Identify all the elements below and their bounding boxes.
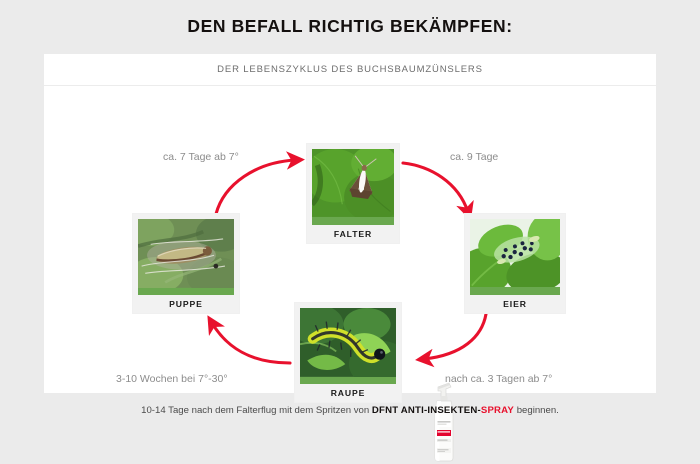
arrow-falter-to-eier bbox=[400, 160, 484, 222]
cycle-card-falter[interactable]: FALTER bbox=[307, 144, 399, 243]
card-caption-falter: FALTER bbox=[312, 225, 394, 243]
page-title: DEN BEFALL RICHTIG BEKÄMPFEN: bbox=[0, 16, 700, 37]
arrow-puppe-to-falter bbox=[212, 156, 310, 218]
label-falter-to-eier: ca. 9 Tage bbox=[450, 151, 498, 163]
infographic-root: DEN BEFALL RICHTIG BEKÄMPFEN: DER LEBENS… bbox=[0, 0, 700, 441]
cycle-card-eier[interactable]: EIER bbox=[465, 214, 565, 313]
label-eier-to-raupe: nach ca. 3 Tagen ab 7° bbox=[445, 373, 552, 385]
label-raupe-to-puppe: 3-10 Wochen bei 7°-30° bbox=[116, 373, 228, 385]
card-caption-raupe: RAUPE bbox=[300, 384, 396, 402]
footer-brand-bold: DFNT ANTI-INSEKTEN- bbox=[372, 405, 481, 416]
card-caption-puppe: PUPPE bbox=[138, 295, 234, 313]
label-puppe-to-falter: ca. 7 Tage ab 7° bbox=[163, 151, 239, 163]
lifecycle-stage: ca. 7 Tage ab 7° ca. 9 Tage nach ca. 3 T… bbox=[44, 87, 656, 393]
card-caption-eier: EIER bbox=[470, 295, 560, 313]
panel-header: DER LEBENSZYKLUS DES BUCHSBAUMZÜNSLERS bbox=[44, 54, 656, 86]
spray-bottle-product[interactable] bbox=[429, 378, 461, 464]
pupa-in-webbing-photo bbox=[138, 219, 234, 295]
footer-note: 10-14 Tage nach dem Falterflug mit dem S… bbox=[0, 405, 700, 416]
footer-text-after: beginnen. bbox=[514, 405, 559, 416]
arrow-eier-to-raupe bbox=[412, 311, 496, 367]
footer-brand-accent: SPRAY bbox=[481, 405, 514, 416]
panel-subtitle: DER LEBENSZYKLUS DES BUCHSBAUMZÜNSLERS bbox=[217, 64, 483, 75]
cycle-card-raupe[interactable]: RAUPE bbox=[295, 303, 401, 402]
footer-text-before: 10-14 Tage nach dem Falterflug mit dem S… bbox=[141, 405, 372, 416]
eggs-on-leaf-photo bbox=[470, 219, 560, 295]
caterpillar-on-leaf-photo bbox=[300, 308, 396, 384]
lifecycle-panel: DER LEBENSZYKLUS DES BUCHSBAUMZÜNSLERS bbox=[44, 54, 656, 393]
moth-on-leaf-photo bbox=[312, 149, 394, 225]
cycle-card-puppe[interactable]: PUPPE bbox=[133, 214, 239, 313]
arrow-raupe-to-puppe bbox=[200, 315, 296, 369]
